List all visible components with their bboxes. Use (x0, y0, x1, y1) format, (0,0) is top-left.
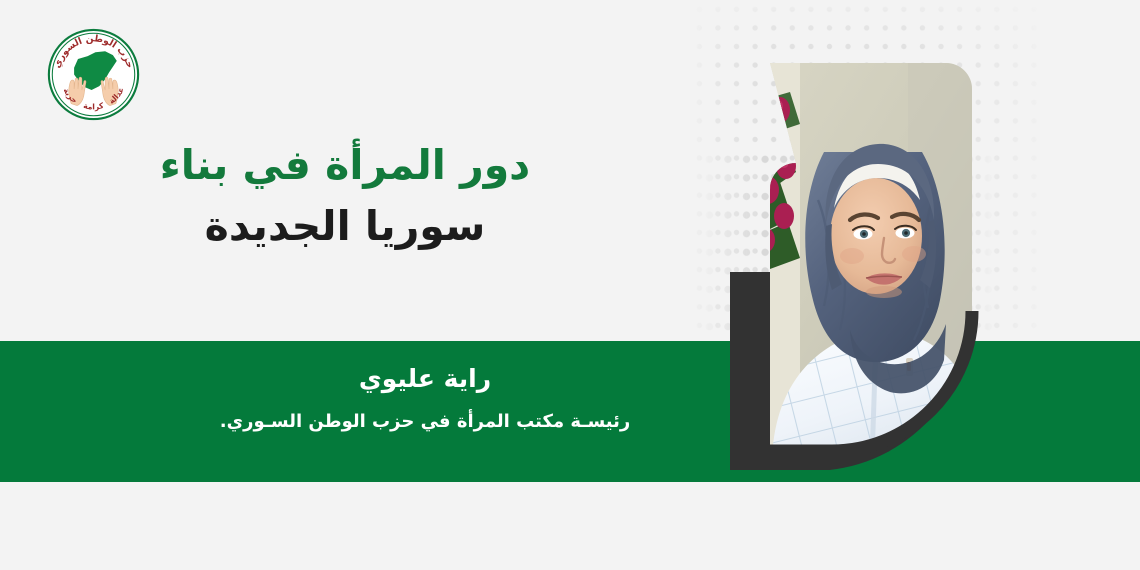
speaker-block: راية عليوي رئيسـة مكتب المرأة في حزب الو… (215, 363, 635, 434)
speaker-role: رئيسـة مكتب المرأة في حزب الوطن السـوري. (215, 410, 635, 434)
headline-line-2: سوريا الجديدة (135, 201, 555, 252)
logo-bottom-text-center: كرامة (82, 101, 105, 112)
svg-text:كرامة: كرامة (82, 101, 105, 112)
headline-block: دور المرأة في بناء سوريا الجديدة (135, 140, 555, 253)
banner-canvas: حزب الوطن السوري حرية كرامة عدالة دور ال… (0, 0, 1140, 570)
headline-line-1: دور المرأة في بناء (135, 140, 555, 191)
portrait-group (700, 40, 1020, 470)
party-logo: حزب الوطن السوري حرية كرامة عدالة (45, 26, 142, 123)
speaker-name: راية عليوي (215, 363, 635, 396)
